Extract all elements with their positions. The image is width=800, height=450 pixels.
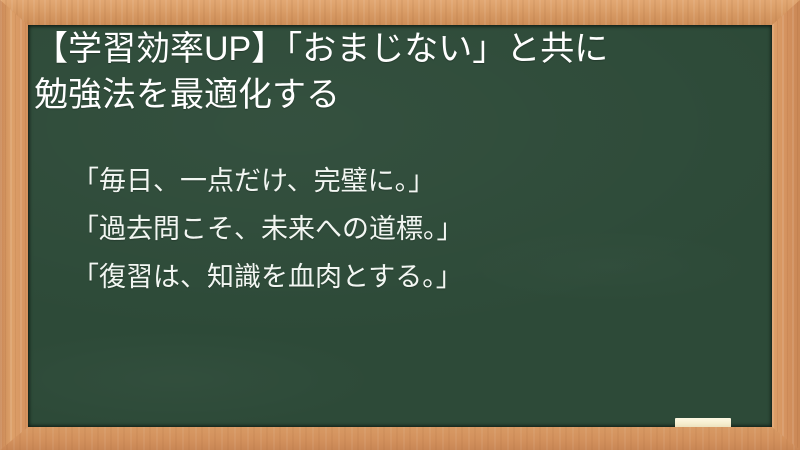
quote-line: 「過去問こそ、未来への道標。」 xyxy=(72,205,762,253)
chalkboard-surface: 【学習効率UP】「おまじない」と共に 勉強法を最適化する 「毎日、一点だけ、完璧… xyxy=(28,25,772,427)
frame-plank-bottom xyxy=(0,427,800,450)
quote-line: 「復習は、知識を血肉とする。」 xyxy=(72,253,762,301)
frame-plank-right xyxy=(772,0,800,450)
frame-plank-left xyxy=(0,0,28,450)
frame-plank-top xyxy=(0,0,800,25)
quote-line: 「毎日、一点だけ、完璧に。」 xyxy=(72,157,762,205)
chalk-stick xyxy=(675,418,731,427)
chalkboard-frame: 【学習効率UP】「おまじない」と共に 勉強法を最適化する 「毎日、一点だけ、完璧… xyxy=(0,0,800,450)
quote-list: 「毎日、一点だけ、完璧に。」 「過去問こそ、未来への道標。」 「復習は、知識を血… xyxy=(72,157,762,301)
board-title: 【学習効率UP】「おまじない」と共に 勉強法を最適化する xyxy=(34,26,770,118)
